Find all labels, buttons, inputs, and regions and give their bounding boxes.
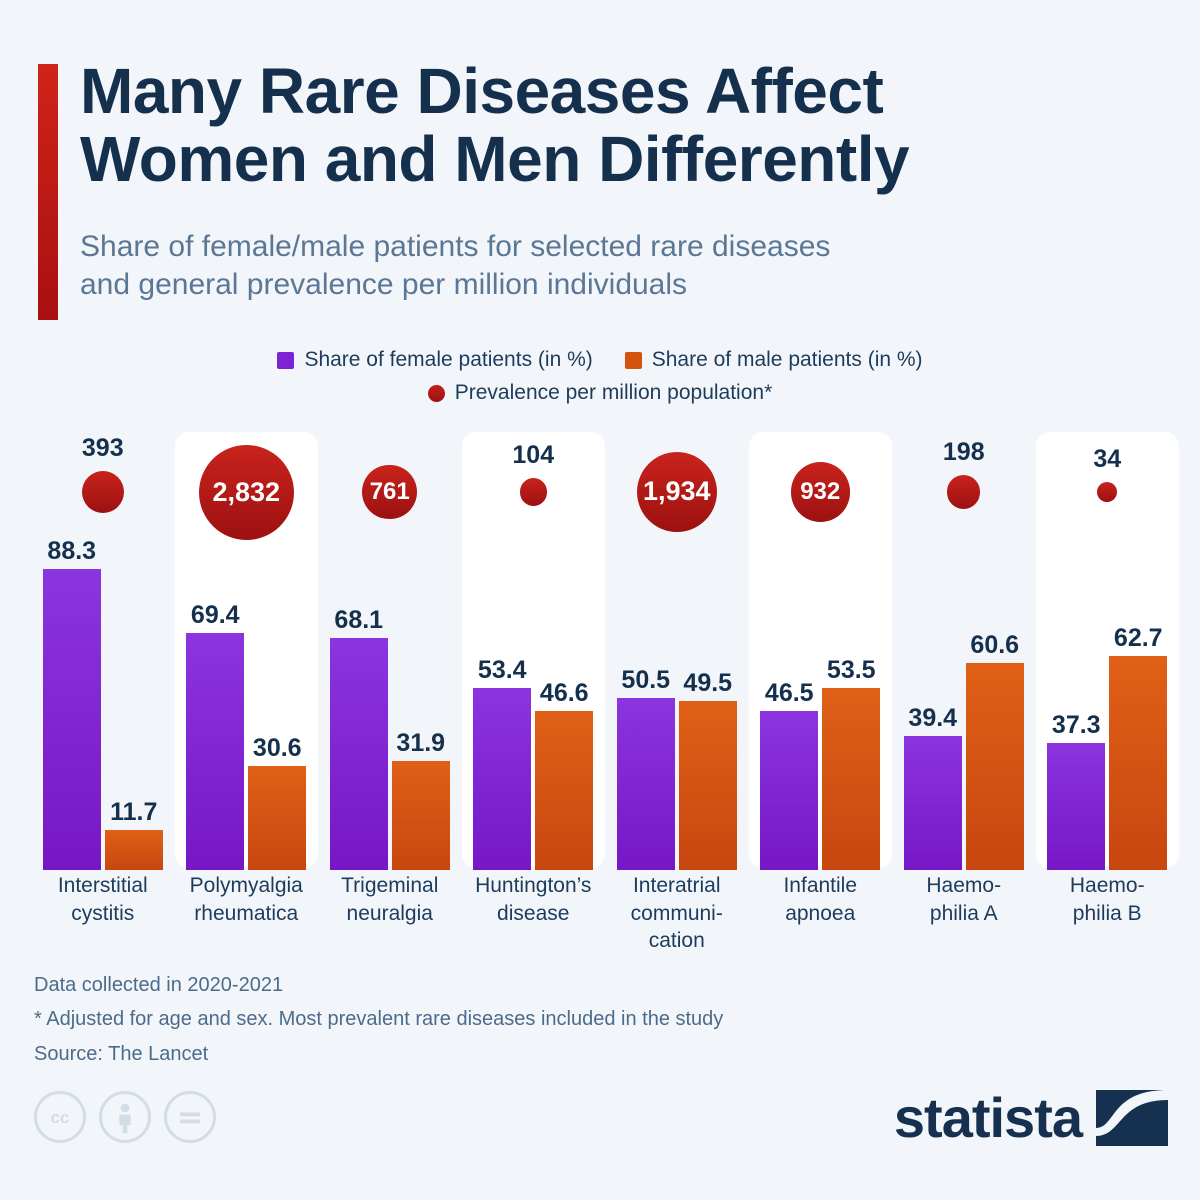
chart-column: 93246.553.5 xyxy=(749,430,893,870)
cc-nd-equals-icon[interactable] xyxy=(164,1091,216,1143)
bar-value-label: 62.7 xyxy=(1114,624,1163,653)
chart-column: 2,83269.430.6 xyxy=(175,430,319,870)
bar-group: 37.362.7 xyxy=(1036,436,1180,870)
bar-male[interactable]: 30.6 xyxy=(248,766,306,870)
bar-male[interactable]: 60.6 xyxy=(966,663,1024,870)
bar-female[interactable]: 68.1 xyxy=(330,638,388,870)
bar-group: 69.430.6 xyxy=(175,436,319,870)
page-title: Many Rare Diseases Affect Women and Men … xyxy=(80,58,1140,194)
statista-mark-icon xyxy=(1096,1090,1168,1146)
title-line-1: Many Rare Diseases Affect xyxy=(80,58,1140,126)
bar-male[interactable]: 31.9 xyxy=(392,761,450,870)
cc-icon[interactable]: cc xyxy=(34,1091,86,1143)
x-axis-label-line: Infantile xyxy=(749,872,893,900)
x-axis-label-line: Interstitial xyxy=(31,872,175,900)
bar-chart: 39388.311.72,83269.430.676168.131.910453… xyxy=(0,430,1200,870)
statista-wordmark: statista xyxy=(894,1085,1082,1150)
x-axis-label-line: cystitis xyxy=(31,900,175,928)
bar-group: 53.446.6 xyxy=(462,436,606,870)
legend-label-female: Share of female patients (in %) xyxy=(304,348,592,372)
x-axis-label-line: Interatrial xyxy=(605,872,749,900)
bar-value-label: 60.6 xyxy=(970,631,1019,660)
x-axis-label: Interstitialcystitis xyxy=(31,872,175,927)
x-axis-label: Haemo-philia B xyxy=(1036,872,1180,927)
bar-value-label: 50.5 xyxy=(621,666,670,695)
bar-female[interactable]: 37.3 xyxy=(1047,743,1105,870)
legend-label-prevalence: Prevalence per million population* xyxy=(455,381,773,405)
bar-female[interactable]: 53.4 xyxy=(473,688,531,870)
bar-female[interactable]: 88.3 xyxy=(43,569,101,870)
x-axis-label-line: philia B xyxy=(1036,900,1180,928)
x-axis-label-line: Huntington’s xyxy=(462,872,606,900)
bar-female[interactable]: 50.5 xyxy=(617,698,675,870)
infographic-footer: cc statista xyxy=(0,1085,1200,1180)
bar-group: 50.549.5 xyxy=(605,436,749,870)
footnote: * Adjusted for age and sex. Most prevale… xyxy=(34,1002,1134,1036)
x-axis-label-line: philia A xyxy=(892,900,1036,928)
bar-male[interactable]: 49.5 xyxy=(679,701,737,870)
page-subtitle: Share of female/male patients for select… xyxy=(80,228,1160,304)
cc-by-person-icon[interactable] xyxy=(99,1091,151,1143)
svg-text:cc: cc xyxy=(51,1108,70,1127)
legend-item-prevalence[interactable]: Prevalence per million population* xyxy=(428,381,773,405)
bar-value-label: 11.7 xyxy=(110,798,157,827)
chart-legend: Share of female patients (in %) Share of… xyxy=(0,348,1200,405)
x-axis-label-line: cation xyxy=(605,927,749,955)
legend-item-male[interactable]: Share of male patients (in %) xyxy=(625,348,923,372)
footnote: Data collected in 2020-2021 xyxy=(34,968,1134,1002)
x-axis-label-line: disease xyxy=(462,900,606,928)
legend-swatch-male-icon xyxy=(625,352,642,369)
bar-value-label: 30.6 xyxy=(253,734,302,763)
bar-female[interactable]: 46.5 xyxy=(760,711,818,870)
bar-group: 46.553.5 xyxy=(749,436,893,870)
footnotes: Data collected in 2020-2021* Adjusted fo… xyxy=(34,968,1134,1071)
bar-value-label: 53.5 xyxy=(827,656,876,685)
bar-value-label: 49.5 xyxy=(683,669,732,698)
legend-label-male: Share of male patients (in %) xyxy=(652,348,923,372)
creative-commons-icons: cc xyxy=(34,1091,216,1143)
bar-value-label: 46.6 xyxy=(540,679,589,708)
chart-column: 19839.460.6 xyxy=(892,430,1036,870)
x-axis-label: Huntington’sdisease xyxy=(462,872,606,927)
subtitle-line-2: and general prevalence per million indiv… xyxy=(80,266,1160,304)
x-axis-label-line: apnoea xyxy=(749,900,893,928)
footnote: Source: The Lancet xyxy=(34,1037,1134,1071)
x-axis-label-line: Polymyalgia xyxy=(175,872,319,900)
chart-column: 1,93450.549.5 xyxy=(605,430,749,870)
x-axis-label: Trigeminalneuralgia xyxy=(318,872,462,927)
bar-male[interactable]: 11.7 xyxy=(105,830,163,870)
bar-value-label: 46.5 xyxy=(765,679,814,708)
infographic-header: Many Rare Diseases Affect Women and Men … xyxy=(0,0,1200,340)
legend-dot-prevalence-icon xyxy=(428,385,445,402)
title-line-2: Women and Men Differently xyxy=(80,126,1140,194)
legend-row-series: Share of female patients (in %) Share of… xyxy=(0,348,1200,372)
bar-male[interactable]: 62.7 xyxy=(1109,656,1167,870)
bar-value-label: 53.4 xyxy=(478,656,527,685)
x-axis-label: Interatrialcommuni-cation xyxy=(605,872,749,955)
x-axis-label: Infantileapnoea xyxy=(749,872,893,927)
chart-column: 76168.131.9 xyxy=(318,430,462,870)
legend-swatch-female-icon xyxy=(277,352,294,369)
subtitle-line-1: Share of female/male patients for select… xyxy=(80,228,1160,266)
x-axis-label-line: rheumatica xyxy=(175,900,319,928)
bar-value-label: 31.9 xyxy=(396,729,445,758)
bar-male[interactable]: 46.6 xyxy=(535,711,593,870)
bar-value-label: 39.4 xyxy=(908,704,957,733)
bar-value-label: 68.1 xyxy=(334,606,383,635)
x-axis-labels: InterstitialcystitisPolymyalgiarheumatic… xyxy=(0,872,1200,967)
chart-column: 10453.446.6 xyxy=(462,430,606,870)
x-axis-label: Polymyalgiarheumatica xyxy=(175,872,319,927)
accent-bar xyxy=(38,64,58,320)
legend-item-female[interactable]: Share of female patients (in %) xyxy=(277,348,592,372)
chart-column: 3437.362.7 xyxy=(1036,430,1180,870)
bar-group: 88.311.7 xyxy=(31,436,175,870)
x-axis-label: Haemo-philia A xyxy=(892,872,1036,927)
bar-value-label: 37.3 xyxy=(1052,711,1101,740)
bar-group: 39.460.6 xyxy=(892,436,1036,870)
bar-female[interactable]: 39.4 xyxy=(904,736,962,870)
bar-group: 68.131.9 xyxy=(318,436,462,870)
x-axis-label-line: neuralgia xyxy=(318,900,462,928)
statista-logo[interactable]: statista xyxy=(894,1085,1168,1150)
chart-column: 39388.311.7 xyxy=(31,430,175,870)
bar-male[interactable]: 53.5 xyxy=(822,688,880,870)
legend-row-prevalence: Prevalence per million population* xyxy=(0,381,1200,405)
x-axis-label-line: Haemo- xyxy=(1036,872,1180,900)
bar-value-label: 88.3 xyxy=(47,537,96,566)
x-axis-label-line: Trigeminal xyxy=(318,872,462,900)
bar-female[interactable]: 69.4 xyxy=(186,633,244,870)
x-axis-label-line: communi- xyxy=(605,900,749,928)
x-axis-label-line: Haemo- xyxy=(892,872,1036,900)
bar-value-label: 69.4 xyxy=(191,601,240,630)
